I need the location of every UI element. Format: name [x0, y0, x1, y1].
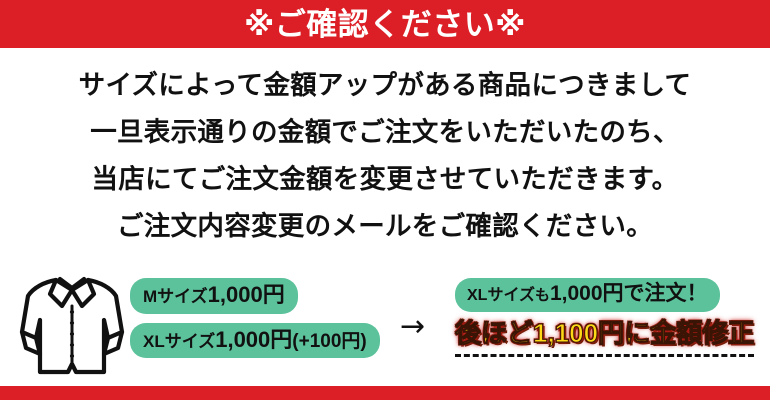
footer-bar [0, 386, 770, 400]
price-badge-xl: XLサイズ1,000円(+100円) [130, 323, 380, 359]
price-correction-note: 後ほど1,100円に金額修正 [455, 319, 754, 357]
price-correction-text: 後ほど1,100円に金額修正 [455, 319, 754, 349]
dashed-underline [455, 354, 754, 357]
notice-body: サイズによって金額アップがある商品につきまして 一旦表示通りの金額でご注文をいた… [0, 62, 770, 250]
order-price-badge-size: XLサイズ [467, 287, 535, 304]
dress-shirt-icon [16, 268, 128, 380]
price-badge-xl-extra: (+100円) [292, 331, 366, 352]
order-price-badge-amount: 1,000円で注文！ [550, 282, 708, 305]
notice-line-4: ご注文内容変更のメールをご確認ください。 [0, 203, 770, 250]
page-title: ※ご確認ください※ [244, 9, 526, 40]
after-price-group: XLサイズも1,000円で注文！ 後ほど1,100円に金額修正 [455, 278, 755, 357]
notice-line-1: サイズによって金額アップがある商品につきまして [0, 62, 770, 109]
before-price-group: Mサイズ1,000円 XLサイズ1,000円(+100円) [130, 278, 380, 358]
notice-banner: ※ご確認ください※ サイズによって金額アップがある商品につきまして 一旦表示通り… [0, 0, 770, 400]
header-bar: ※ご確認ください※ [0, 0, 770, 48]
order-price-badge-particle: も [535, 287, 550, 304]
price-badge-xl-size: XLサイズ [143, 332, 215, 351]
arrow-right-icon: → [400, 312, 425, 342]
price-badge-m-size: Mサイズ [143, 287, 208, 306]
price-badge-xl-amount: 1,000円 [215, 327, 292, 352]
notice-line-2: 一旦表示通りの金額でご注文をいただいたのち、 [0, 109, 770, 156]
price-comparison: Mサイズ1,000円 XLサイズ1,000円(+100円) → XLサイズも1,… [0, 264, 770, 384]
notice-line-3: 当店にてご注文金額を変更させていただきます。 [0, 156, 770, 203]
price-badge-m-amount: 1,000円 [208, 282, 285, 307]
order-price-badge: XLサイズも1,000円で注文！ [455, 278, 720, 312]
price-badge-m: Mサイズ1,000円 [130, 278, 298, 314]
